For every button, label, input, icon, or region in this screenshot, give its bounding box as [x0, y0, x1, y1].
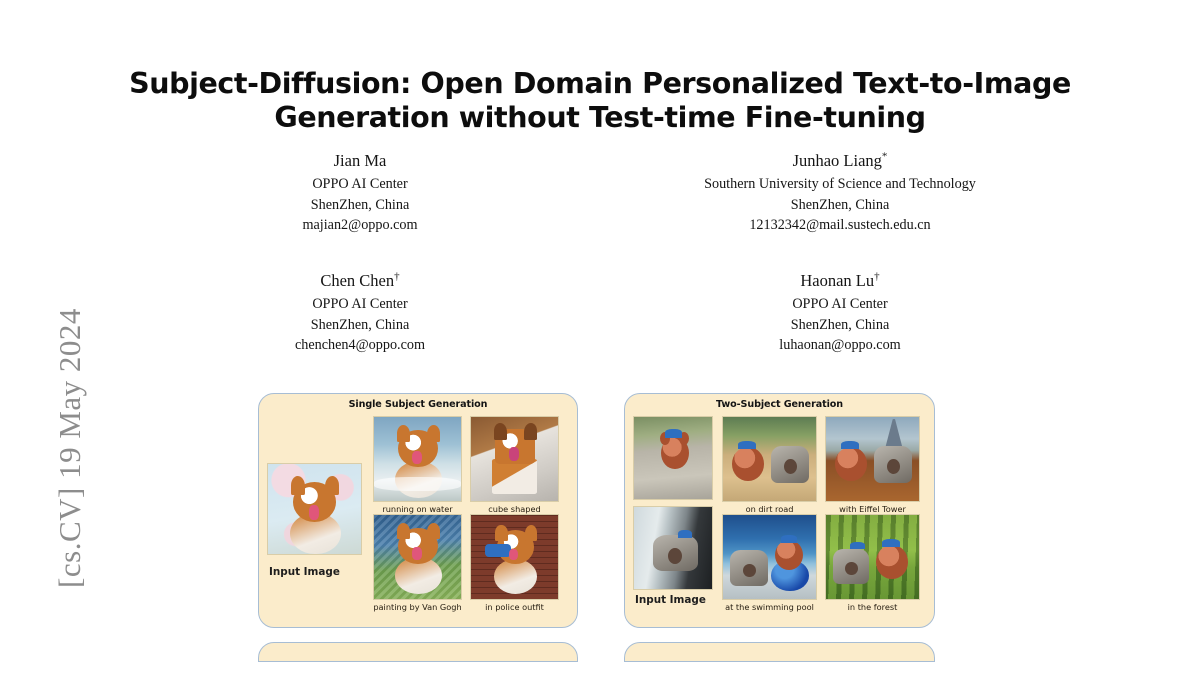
author-location: ShenZhen, China — [600, 315, 1080, 336]
generated-caption: cube shaped — [488, 504, 540, 514]
author-name-text: Jian Ma — [334, 151, 387, 170]
input-thumbnail — [633, 506, 713, 590]
author-block-jian-ma: Jian Ma OPPO AI Center ShenZhen, China m… — [120, 150, 600, 236]
input-image-two-a — [633, 416, 713, 500]
page-title-line-2: Generation without Test-time Fine-tuning — [120, 101, 1080, 135]
author-email: luhaonan@oppo.com — [600, 335, 1080, 356]
figure-panel-single-subject: Single Subject Generation Input Image ru… — [258, 393, 578, 628]
author-name-text: Chen Chen — [320, 271, 394, 290]
author-name: Haonan Lu† — [600, 270, 1080, 292]
author-name: Chen Chen† — [120, 270, 600, 292]
generated-caption: running on water — [382, 504, 452, 514]
author-email: 12132342@mail.sustech.edu.cn — [600, 215, 1080, 236]
author-name-text: Junhao Liang — [793, 151, 882, 170]
generated-cell-in-police-outfit: in police outfit — [470, 514, 559, 600]
input-thumbnail — [633, 416, 713, 500]
author-row-1: Jian Ma OPPO AI Center ShenZhen, China m… — [120, 150, 1080, 236]
author-marker: * — [882, 151, 888, 163]
author-email: chenchen4@oppo.com — [120, 335, 600, 356]
author-name: Junhao Liang* — [600, 150, 1080, 172]
author-affiliation: OPPO AI Center — [120, 174, 600, 195]
generated-caption: in the forest — [848, 602, 898, 612]
generated-cell-on-dirt-road: on dirt road — [722, 416, 817, 502]
input-image-single — [267, 463, 362, 555]
author-email: majian2@oppo.com — [120, 215, 600, 236]
generated-caption: on dirt road — [746, 504, 794, 514]
author-location: ShenZhen, China — [120, 315, 600, 336]
author-name: Jian Ma — [120, 150, 600, 172]
generated-cell-at-the-swimming-pool: at the swimming pool — [722, 514, 817, 600]
generated-caption: at the swimming pool — [725, 602, 814, 612]
author-block-chen-chen: Chen Chen† OPPO AI Center ShenZhen, Chin… — [120, 270, 600, 356]
author-location: ShenZhen, China — [120, 195, 600, 216]
generated-thumbnail — [825, 416, 920, 502]
panel-title: Single Subject Generation — [259, 399, 577, 410]
input-image-two-b — [633, 506, 713, 590]
author-block-haonan-lu: Haonan Lu† OPPO AI Center ShenZhen, Chin… — [600, 270, 1080, 356]
figure-panel-two-subject: Two-Subject Generation Input Image on di… — [624, 393, 935, 628]
author-affiliation: Southern University of Science and Techn… — [600, 174, 1080, 195]
page-title-line-1: Subject-Diffusion: Open Domain Personali… — [120, 67, 1080, 101]
generated-thumbnail — [722, 416, 817, 502]
author-affiliation: OPPO AI Center — [120, 294, 600, 315]
author-marker: † — [874, 271, 880, 283]
generated-cell-cube-shaped: cube shaped — [470, 416, 559, 502]
author-row-2: Chen Chen† OPPO AI Center ShenZhen, Chin… — [120, 270, 1080, 356]
input-image-label: Input Image — [635, 594, 706, 606]
generated-cell-running-on-water: running on water — [373, 416, 462, 502]
author-location: ShenZhen, China — [600, 195, 1080, 216]
figure-panel-next-right-clipped — [624, 642, 935, 662]
generated-caption: painting by Van Gogh — [373, 602, 461, 612]
generated-thumbnail — [722, 514, 817, 600]
input-thumbnail — [267, 463, 362, 555]
author-affiliation: OPPO AI Center — [600, 294, 1080, 315]
figure-panel-next-left-clipped — [258, 642, 578, 662]
generated-caption: in police outfit — [485, 602, 544, 612]
generated-caption: with Eiffel Tower — [839, 504, 906, 514]
author-name-text: Haonan Lu — [800, 271, 874, 290]
author-marker: † — [394, 271, 400, 283]
arxiv-stamp-text: [cs.CV] 19 May 2024 — [52, 218, 88, 678]
author-block-junhao-liang: Junhao Liang* Southern University of Sci… — [600, 150, 1080, 236]
arxiv-stamp: [cs.CV] 19 May 2024 — [0, 0, 70, 648]
police-cap — [485, 544, 511, 557]
generated-thumbnail — [470, 416, 559, 502]
panel-title: Two-Subject Generation — [625, 399, 934, 410]
generated-thumbnail — [825, 514, 920, 600]
generated-thumbnail — [470, 514, 559, 600]
page-title: Subject-Diffusion: Open Domain Personali… — [120, 67, 1080, 135]
generated-thumbnail — [373, 514, 462, 600]
generated-cell-in-the-forest: in the forest — [825, 514, 920, 600]
generated-thumbnail — [373, 416, 462, 502]
input-image-label: Input Image — [269, 566, 340, 578]
generated-cell-with-eiffel-tower: with Eiffel Tower — [825, 416, 920, 502]
generated-cell-painting-by-van-gogh: painting by Van Gogh — [373, 514, 462, 600]
